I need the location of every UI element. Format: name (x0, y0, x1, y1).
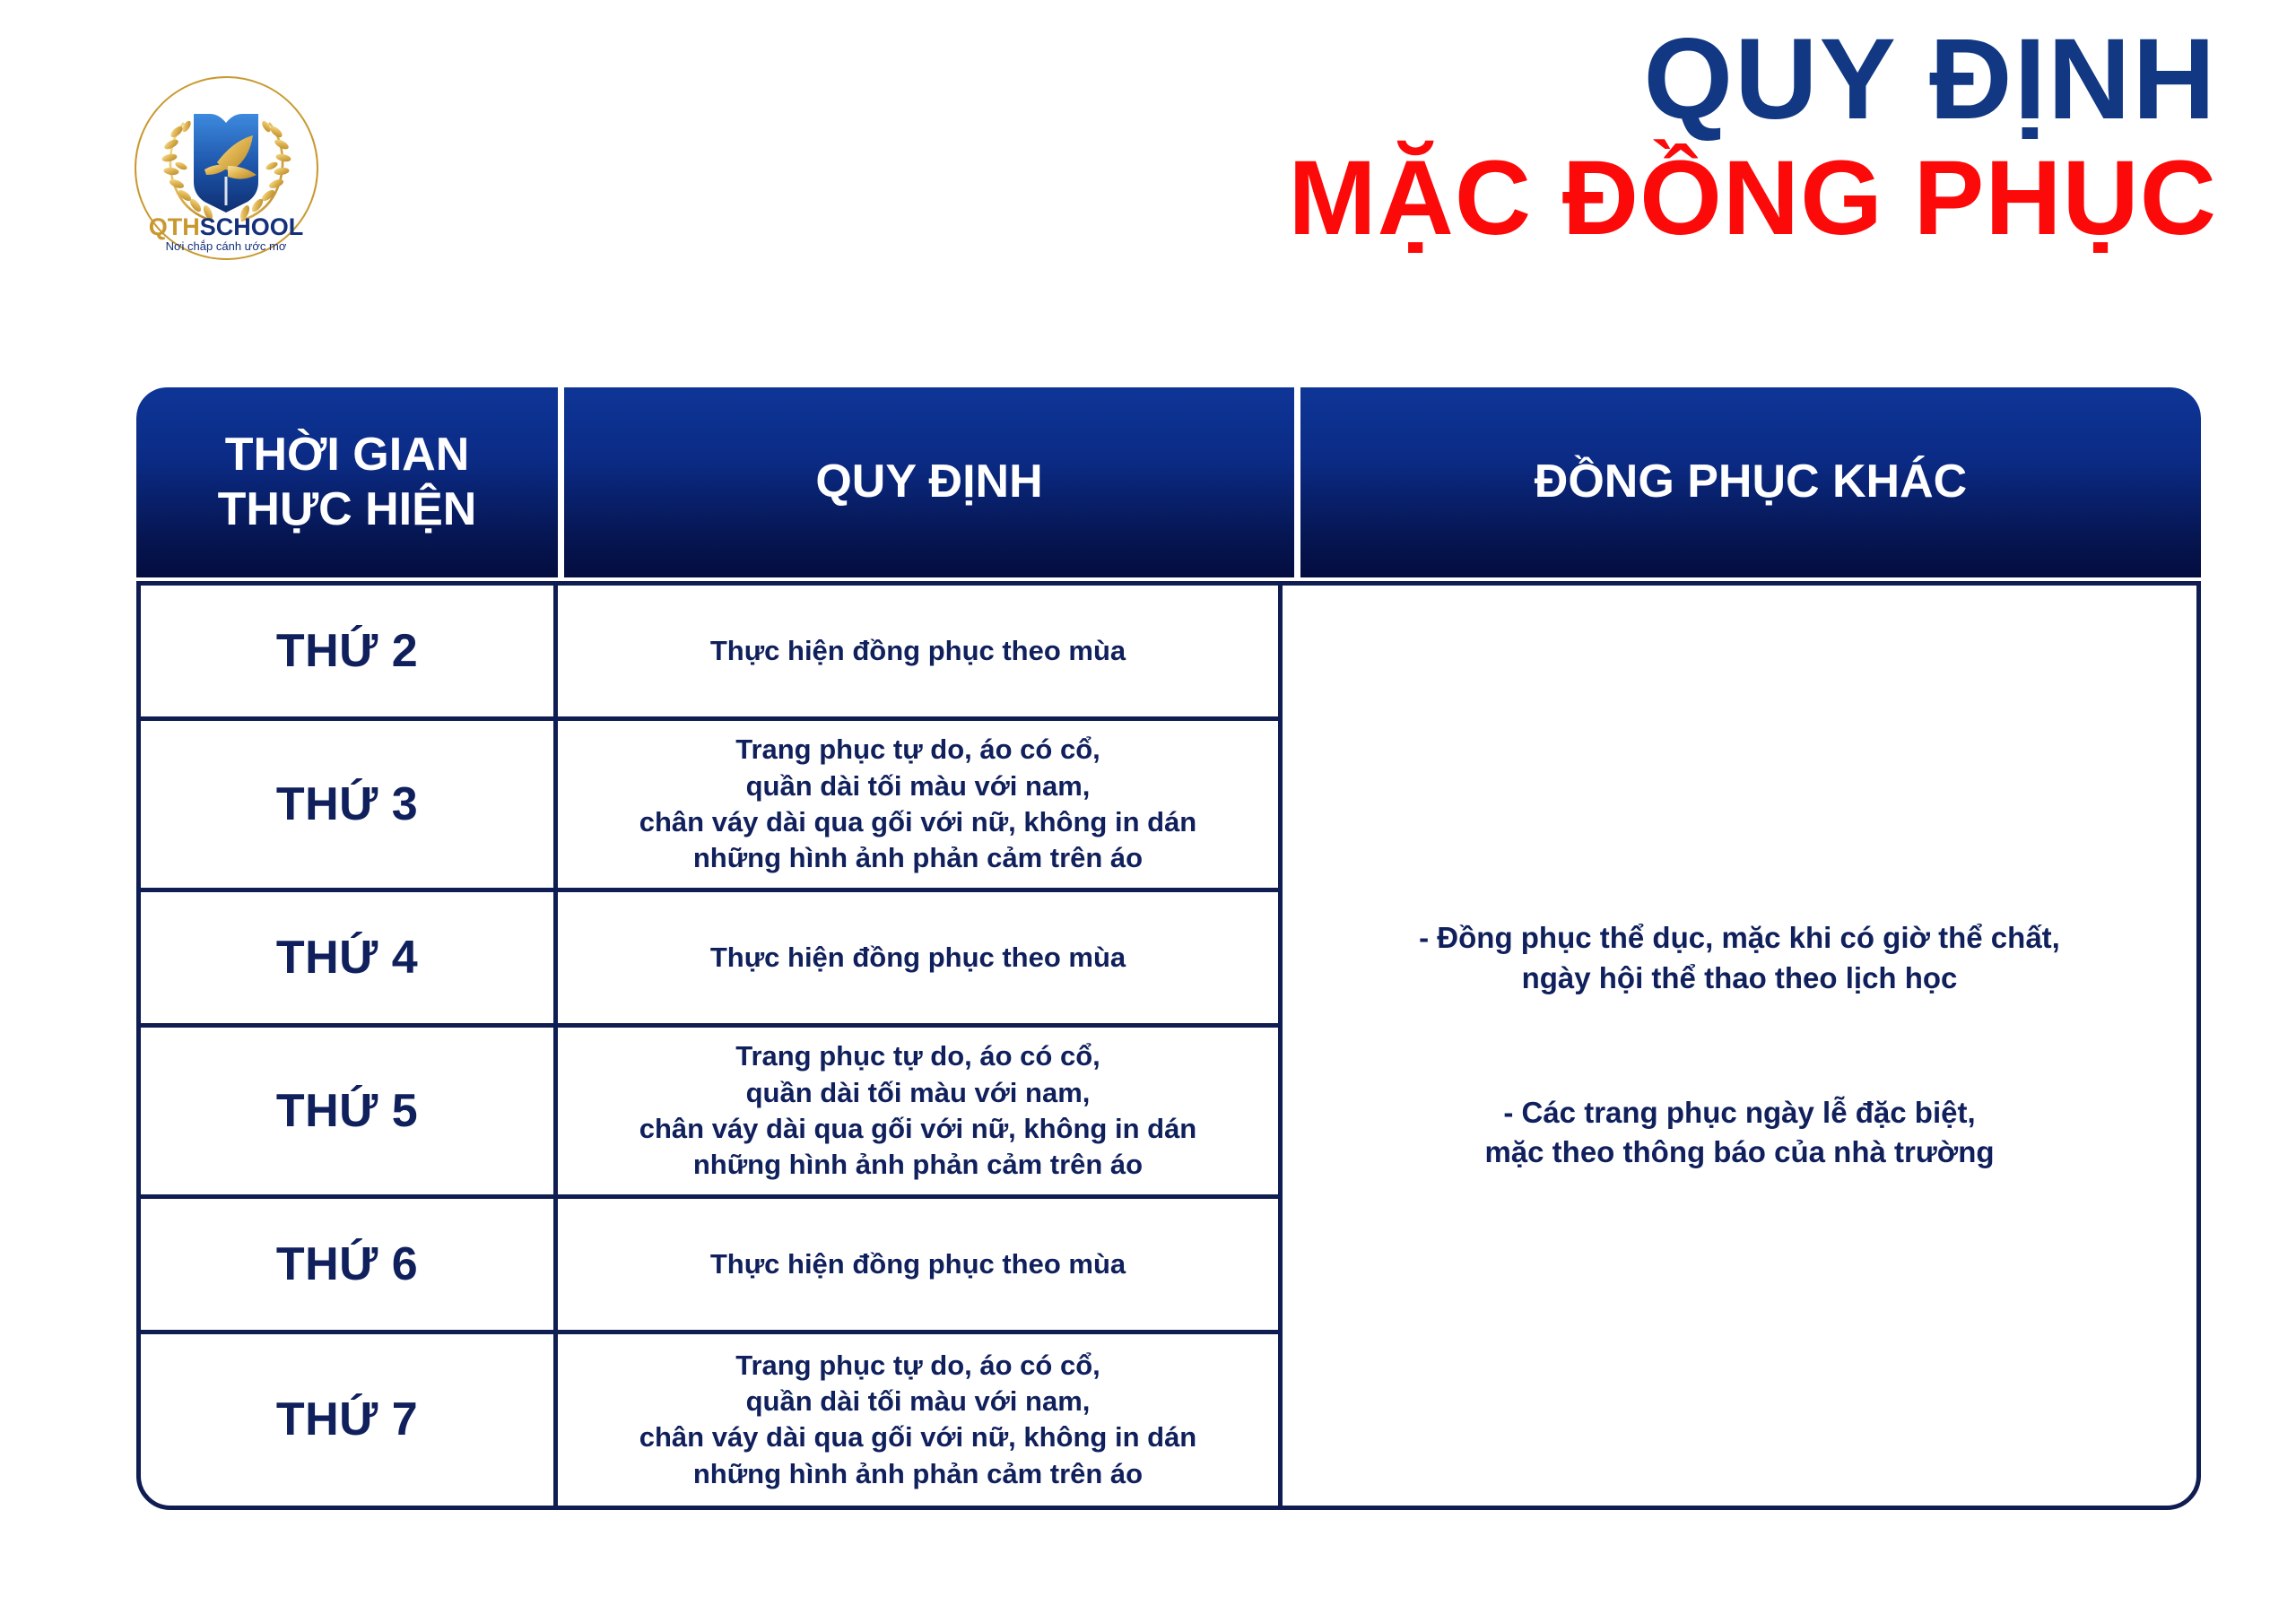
rule-line: Thực hiện đồng phục theo mùa (710, 940, 1126, 976)
table-row: Thực hiện đồng phục theo mùa (558, 1199, 1278, 1334)
uniform-rules-table: THỜI GIAN THỰC HIỆN QUY ĐỊNH ĐỒNG PHỤC K… (136, 387, 2201, 1510)
rule-text: Thực hiện đồng phục theo mùa (694, 633, 1142, 669)
rule-text: Trang phục tự do, áo có cổ, quần dài tối… (623, 1348, 1213, 1492)
table-body: THỨ 2 THỨ 3 THỨ 4 THỨ 5 THỨ 6 THỨ 7 Thực… (136, 581, 2201, 1510)
other-uniform-text: - Đồng phục thể dục, mặc khi có giờ thể … (1419, 918, 2060, 1172)
day-label: THỨ 2 (276, 624, 418, 678)
rule-line: quần dài tối màu với nam, (639, 768, 1197, 804)
other-uniform-line: ngày hội thể thao theo lịch học (1419, 959, 2060, 999)
day-label: THỨ 5 (276, 1084, 418, 1138)
table-row: THỨ 2 (141, 586, 553, 721)
poster-header: QTHSCHOOL Nơi chắp cánh ước mơ QUY ĐỊNH … (0, 0, 2296, 359)
table-column-days: THỨ 2 THỨ 3 THỨ 4 THỨ 5 THỨ 6 THỨ 7 (141, 586, 558, 1506)
rule-text: Trang phục tự do, áo có cổ, quần dài tối… (623, 732, 1213, 876)
table-row: THỨ 7 (141, 1334, 553, 1506)
poster-title-main: QUY ĐỊNH (1288, 20, 2217, 140)
rule-line: những hình ảnh phản cảm trên áo (639, 840, 1197, 876)
rule-line: chân váy dài qua gối với nữ, không in dá… (639, 1111, 1197, 1147)
other-uniform-line: - Đồng phục thể dục, mặc khi có giờ thể … (1419, 918, 2060, 959)
logo-artwork: QTHSCHOOL Nơi chắp cánh ước mơ (135, 76, 318, 260)
table-row: Thực hiện đồng phục theo mùa (558, 892, 1278, 1028)
table-header-time-line2: THỰC HIỆN (218, 482, 477, 537)
logo-name-school: SCHOOL (200, 213, 304, 240)
table-row: Thực hiện đồng phục theo mùa (558, 586, 1278, 721)
rule-line: những hình ảnh phản cảm trên áo (639, 1456, 1197, 1492)
logo-name: QTHSCHOOL (149, 213, 304, 240)
table-row: Trang phục tự do, áo có cổ, quần dài tối… (558, 1028, 1278, 1199)
table-row: Trang phục tự do, áo có cổ, quần dài tối… (558, 1334, 1278, 1506)
book-spine (225, 177, 228, 205)
rule-line: chân váy dài qua gối với nữ, không in dá… (639, 1419, 1197, 1455)
table-row: THỨ 6 (141, 1199, 553, 1334)
rule-line: những hình ảnh phản cảm trên áo (639, 1147, 1197, 1183)
table-row: THỨ 5 (141, 1028, 553, 1199)
rule-line: quần dài tối màu với nam, (639, 1384, 1197, 1419)
rule-line: Thực hiện đồng phục theo mùa (710, 633, 1126, 669)
rule-text: Thực hiện đồng phục theo mùa (694, 940, 1142, 976)
poster-title-block: QUY ĐỊNH MẶC ĐỒNG PHỤC (1288, 20, 2217, 251)
table-column-other-uniform: - Đồng phục thể dục, mặc khi có giờ thể … (1283, 586, 2196, 1506)
other-uniform-spacer (1419, 999, 2060, 1093)
table-header-time-line1: THỜI GIAN (218, 428, 477, 482)
rule-text: Trang phục tự do, áo có cổ, quần dài tối… (623, 1038, 1213, 1183)
rule-line: Thực hiện đồng phục theo mùa (710, 1246, 1126, 1282)
school-logo: QTHSCHOOL Nơi chắp cánh ước mơ (135, 76, 318, 260)
rule-line: quần dài tối màu với nam, (639, 1075, 1197, 1111)
rule-text: Thực hiện đồng phục theo mùa (694, 1246, 1142, 1282)
day-label: THỨ 3 (276, 777, 418, 831)
day-label: THỨ 4 (276, 931, 418, 985)
logo-tagline: Nơi chắp cánh ước mơ (166, 239, 287, 253)
other-uniform-line: mặc theo thông báo của nhà trường (1419, 1133, 2060, 1173)
table-row: THỨ 4 (141, 892, 553, 1028)
table-header-rule: QUY ĐỊNH (564, 387, 1294, 577)
rule-line: Trang phục tự do, áo có cổ, (639, 1038, 1197, 1074)
rule-line: Trang phục tự do, áo có cổ, (639, 1348, 1197, 1384)
table-header-time: THỜI GIAN THỰC HIỆN (136, 387, 558, 577)
other-uniform-line: - Các trang phục ngày lễ đặc biệt, (1419, 1093, 2060, 1133)
table-row: THỨ 3 (141, 721, 553, 892)
day-label: THỨ 6 (276, 1237, 418, 1291)
logo-name-qth: QTH (149, 213, 200, 240)
table-column-rules: Thực hiện đồng phục theo mùa Trang phục … (558, 586, 1283, 1506)
poster-title-sub: MẶC ĐỒNG PHỤC (1288, 145, 2217, 251)
rule-line: Trang phục tự do, áo có cổ, (639, 732, 1197, 768)
rule-line: chân váy dài qua gối với nữ, không in dá… (639, 804, 1197, 840)
table-header-row: THỜI GIAN THỰC HIỆN QUY ĐỊNH ĐỒNG PHỤC K… (136, 387, 2201, 577)
table-row: Trang phục tự do, áo có cổ, quần dài tối… (558, 721, 1278, 892)
table-header-other: ĐỒNG PHỤC KHÁC (1300, 387, 2201, 577)
day-label: THỨ 7 (276, 1393, 418, 1446)
